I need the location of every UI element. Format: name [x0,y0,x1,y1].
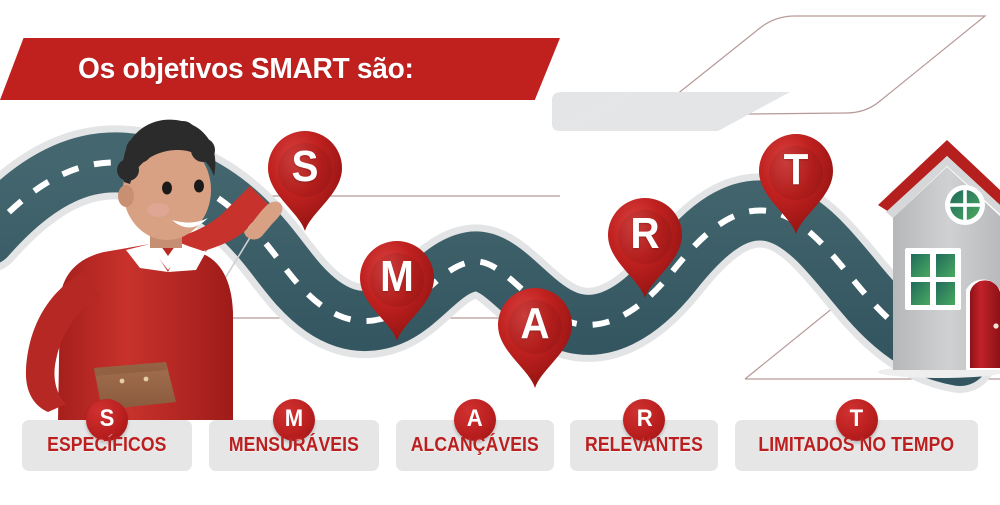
briefcase-clasp-1 [120,379,125,384]
pin-m-hotspot[interactable]: M [360,241,434,341]
ear [118,185,134,207]
legend-item-limitados-no-tempo[interactable]: TLIMITADOS NO TEMPO [735,420,978,471]
legend-item-especificos-badge-letter: S [100,407,115,431]
pin-a-hotspot[interactable]: A [498,288,572,388]
legend-item-especificos[interactable]: SESPECÍFICOS [22,420,192,471]
infographic-canvas: Os objetivos SMART são: SMART SESPECÍFIC… [0,0,1000,505]
pin-s-hotspot[interactable]: S [268,131,342,231]
legend-item-alcancaveis-label: ALCANÇÁVEIS [410,434,538,457]
legend-item-relevantes[interactable]: RRELEVANTES [570,420,718,471]
pin-s-letter: S [271,145,339,189]
legend-item-limitados-no-tempo-label: LIMITADOS NO TEMPO [759,434,955,457]
pin-r-letter: R [611,212,679,256]
legend-item-mensuraveis[interactable]: MMENSURÁVEIS [209,420,379,471]
house-icon [878,140,1000,378]
eye-right [194,180,204,193]
briefcase-clasp-2 [144,377,149,382]
pin-t-hotspot[interactable]: T [759,134,833,234]
legend-item-alcancaveis-badge-letter: A [467,407,483,431]
legend-item-especificos-label: ESPECÍFICOS [47,434,166,457]
eye-left [162,182,172,195]
square-window-pane-4 [936,282,955,305]
square-window-pane-2 [936,254,955,277]
pin-a-letter: A [501,302,569,346]
legend-item-relevantes-label: RELEVANTES [585,434,703,457]
pin-r-hotspot[interactable]: R [608,198,682,298]
round-window-mullion-h [950,203,980,207]
square-window-pane-3 [911,282,930,305]
pin-t-letter: T [762,148,830,192]
legend-item-relevantes-badge-letter: R [636,407,652,431]
smart-legend-row: SESPECÍFICOSMMENSURÁVEISAALCANÇÁVEISRREL… [0,420,1000,480]
door-knob [993,323,998,328]
cheek [147,203,169,217]
legend-item-mensuraveis-badge-letter: M [285,407,303,431]
legend-item-mensuraveis-label: MENSURÁVEIS [229,434,359,457]
legend-item-alcancaveis[interactable]: AALCANÇÁVEIS [396,420,554,471]
square-window-pane-1 [911,254,930,277]
legend-item-limitados-no-tempo-badge-letter: T [850,407,863,431]
pin-m-letter: M [363,255,431,299]
